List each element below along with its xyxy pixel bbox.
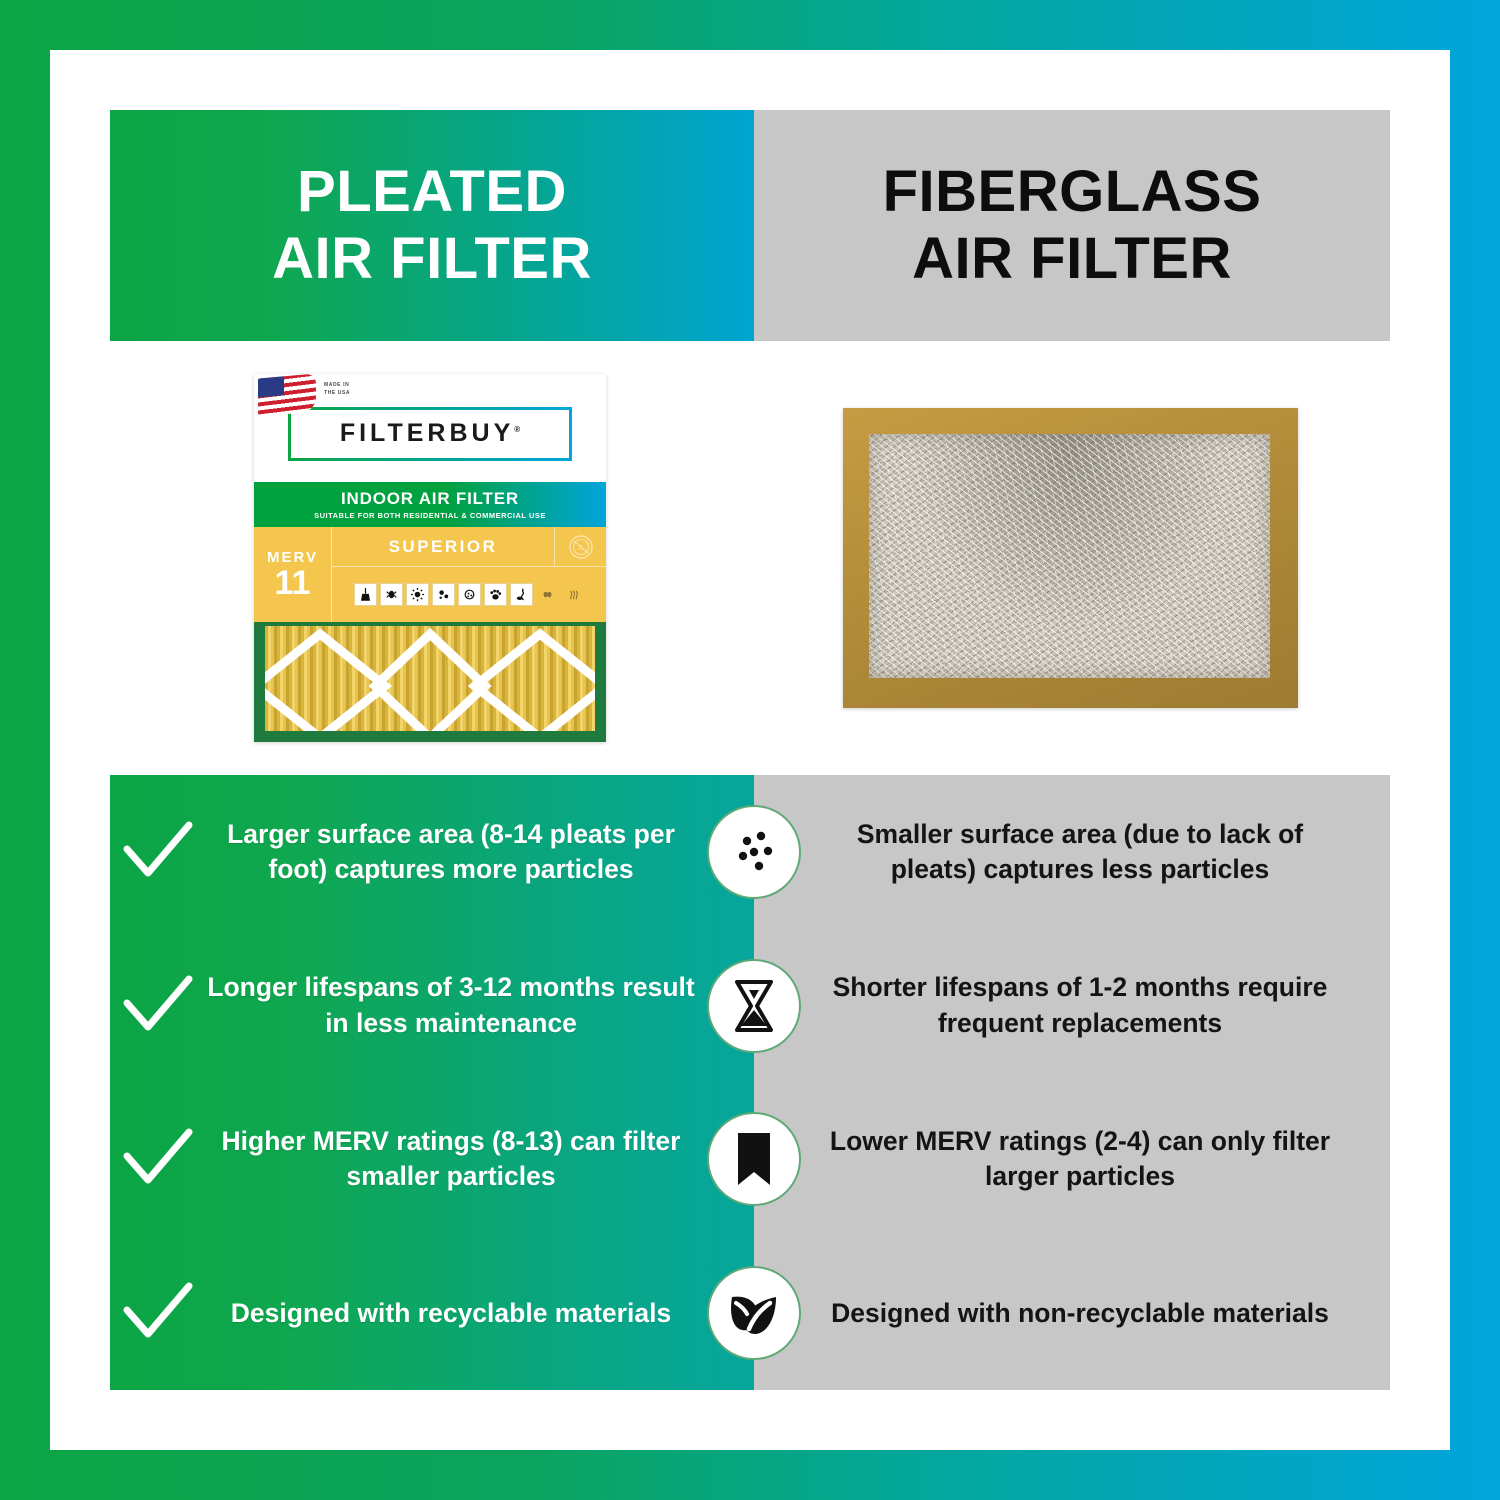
- comparison-rows: Larger surface area (8-14 pleats per foo…: [110, 775, 1390, 1390]
- dust-icon: [354, 583, 377, 606]
- infographic-canvas: PLEATED AIR FILTER FIBERGLASS AIR FILTER: [50, 50, 1450, 1450]
- pleated-filter-product: MADE IN THE USA FILTERBUY INDOOR AIR FIL…: [254, 374, 606, 742]
- comparison-row-left: Designed with recyclable materials: [110, 1282, 754, 1344]
- pleated-benefit-text: Higher MERV ratings (8-13) can filter sm…: [206, 1124, 696, 1194]
- particles-icon: [707, 805, 801, 899]
- virus-icon: [536, 583, 559, 606]
- product-band: INDOOR AIR FILTER SUITABLE FOR BOTH RESI…: [254, 482, 606, 527]
- fiberglass-drawback-text: Shorter lifespans of 1-2 months require …: [754, 970, 1390, 1040]
- infographic-root: PLEATED AIR FILTER FIBERGLASS AIR FILTER: [0, 0, 1500, 1500]
- product-footer-brand: FILTERBUY: [265, 731, 595, 741]
- comparison-row-left: Longer lifespans of 3-12 months result i…: [110, 970, 754, 1040]
- check-icon: [110, 1282, 206, 1344]
- filterbuy-logo-text: FILTERBUY: [340, 419, 520, 447]
- comparison-row: Larger surface area (8-14 pleats per foo…: [110, 775, 1390, 929]
- merv-detail: SUPERIOR C: [332, 527, 606, 622]
- merv-section: MERV 11 SUPERIOR: [254, 527, 606, 622]
- pleated-benefit-text: Larger surface area (8-14 pleats per foo…: [206, 817, 696, 887]
- bookmark-icon: [707, 1112, 801, 1206]
- mold-spores-icon: [432, 583, 455, 606]
- header-fiberglass-title: FIBERGLASS AIR FILTER: [883, 159, 1262, 291]
- header-fiberglass-line1: FIBERGLASS: [883, 159, 1262, 225]
- header-pleated-title: PLEATED AIR FILTER: [272, 159, 592, 291]
- leaf-icon: [707, 1266, 801, 1360]
- check-icon: [110, 821, 206, 883]
- merv-badge: MERV 11: [254, 527, 332, 622]
- header-fiberglass-line2: AIR FILTER: [883, 226, 1262, 292]
- comparison-row: Higher MERV ratings (8-13) can filter sm…: [110, 1083, 1390, 1237]
- fiberglass-filter-product: [843, 408, 1298, 708]
- comparison-row: Longer lifespans of 3-12 months result i…: [110, 929, 1390, 1083]
- product-box-top: MADE IN THE USA FILTERBUY: [254, 374, 606, 482]
- pleated-media-artwork: FILTERBUY: [254, 622, 606, 742]
- product-band-title: INDOOR AIR FILTER: [341, 489, 519, 509]
- filterbuy-logo: FILTERBUY: [288, 407, 572, 461]
- svg-text:C: C: [578, 545, 583, 552]
- comparison-row: Designed with recyclable materials Desig…: [110, 1236, 1390, 1390]
- comparison-section: Larger surface area (8-14 pleats per foo…: [110, 775, 1390, 1390]
- fiberglass-mesh: [869, 434, 1270, 678]
- header-pleated: PLEATED AIR FILTER: [110, 110, 754, 341]
- hourglass-icon: [707, 959, 801, 1053]
- dust-mite-icon: [380, 583, 403, 606]
- product-band-subtitle: SUITABLE FOR BOTH RESIDENTIAL & COMMERCI…: [314, 511, 546, 520]
- check-icon: [110, 1128, 206, 1190]
- comparison-row-left: Higher MERV ratings (8-13) can filter sm…: [110, 1124, 754, 1194]
- header-pleated-line2: AIR FILTER: [272, 226, 592, 292]
- pleated-benefit-text: Longer lifespans of 3-12 months result i…: [206, 970, 696, 1040]
- odor-icon: [562, 583, 585, 606]
- bacteria-icon: [458, 583, 481, 606]
- smoke-icon: [510, 583, 533, 606]
- made-in-line2: THE USA: [324, 390, 350, 398]
- product-images-row: MADE IN THE USA FILTERBUY INDOOR AIR FIL…: [110, 341, 1390, 775]
- header-pleated-line1: PLEATED: [272, 159, 592, 225]
- fiberglass-drawback-text: Designed with non-recyclable materials: [754, 1296, 1390, 1331]
- pleated-image-cell: MADE IN THE USA FILTERBUY INDOOR AIR FIL…: [110, 341, 750, 775]
- made-in-usa-label: MADE IN THE USA: [324, 382, 350, 397]
- merv-value: 11: [275, 566, 311, 600]
- pet-dander-icon: [484, 583, 507, 606]
- usa-flag-icon: [258, 374, 316, 417]
- made-in-line1: MADE IN: [324, 382, 350, 390]
- tier-row: SUPERIOR C: [332, 527, 606, 567]
- check-icon: [110, 975, 206, 1037]
- tier-label: SUPERIOR: [332, 537, 554, 557]
- certification-seal-icon: C: [554, 527, 606, 566]
- fiberglass-image-cell: [750, 341, 1390, 775]
- fiberglass-drawback-text: Smaller surface area (due to lack of ple…: [754, 817, 1390, 887]
- header-row: PLEATED AIR FILTER FIBERGLASS AIR FILTER: [110, 110, 1390, 341]
- header-fiberglass: FIBERGLASS AIR FILTER: [754, 110, 1390, 341]
- pollen-icon: [406, 583, 429, 606]
- fiberglass-drawback-text: Lower MERV ratings (2-4) can only filter…: [754, 1124, 1390, 1194]
- comparison-row-left: Larger surface area (8-14 pleats per foo…: [110, 817, 754, 887]
- allergen-icon-row: [332, 567, 606, 622]
- pleated-benefit-text: Designed with recyclable materials: [206, 1296, 696, 1331]
